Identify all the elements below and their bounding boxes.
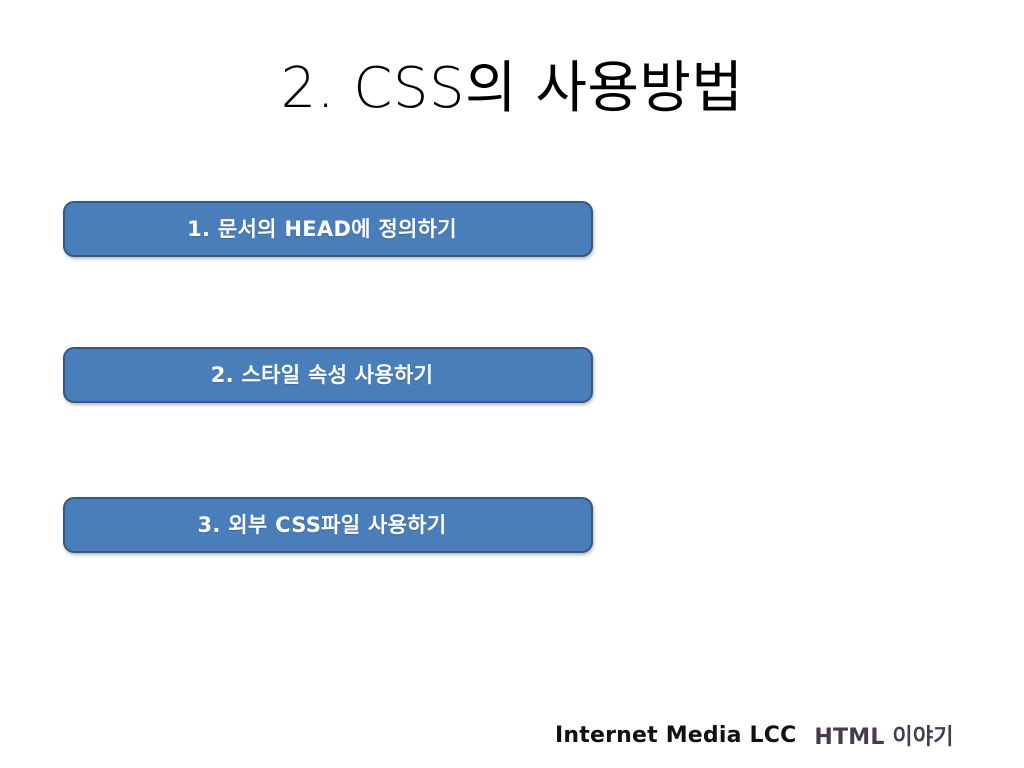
slide-canvas: 2. CSS의 사용방법 1. 문서의 HEAD에 정의하기 2. 스타일 속성… <box>0 0 1024 768</box>
footer-series-title: HTML 이야기 <box>814 719 953 751</box>
option-box-label: 1. 문서의 HEAD에 정의하기 <box>187 219 457 240</box>
option-box-label: 3. 외부 CSS파일 사용하기 <box>198 515 447 536</box>
option-box-external-css-file[interactable]: 3. 외부 CSS파일 사용하기 <box>63 497 593 553</box>
option-box-style-attribute[interactable]: 2. 스타일 속성 사용하기 <box>63 347 593 403</box>
footer-organization: Internet Media LCC <box>555 723 796 748</box>
page-title: 2. CSS의 사용방법 <box>0 54 1024 124</box>
option-box-label: 2. 스타일 속성 사용하기 <box>211 365 434 386</box>
option-box-head-definition[interactable]: 1. 문서의 HEAD에 정의하기 <box>63 201 593 257</box>
slide-footer: Internet Media LCC HTML 이야기 <box>555 718 954 752</box>
